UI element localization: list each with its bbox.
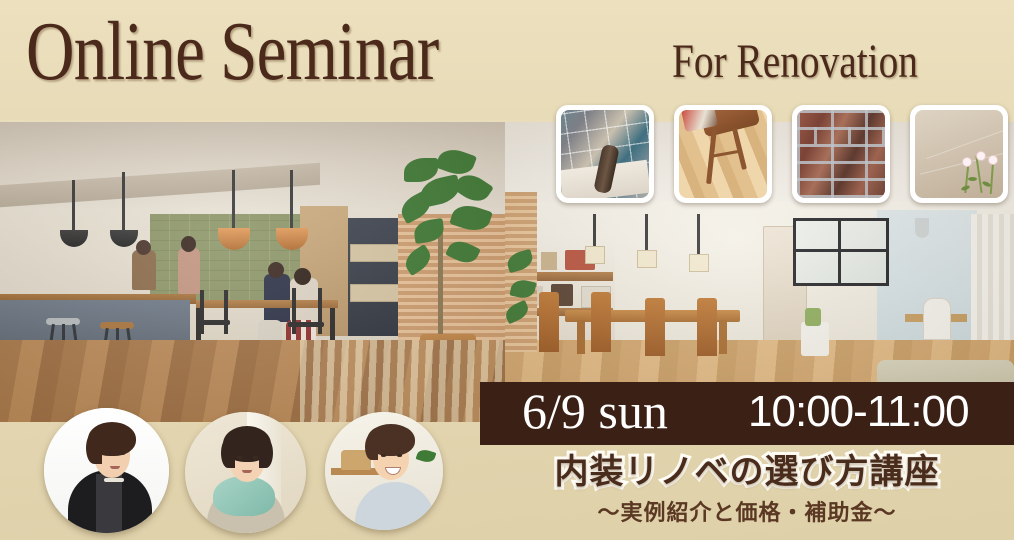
thumbnail-row (556, 105, 1014, 209)
brick-course-offset (814, 127, 885, 144)
presenter-avatar-1[interactable] (44, 408, 169, 533)
seminar-time: 10:00-11:00 (748, 380, 969, 443)
date-time-bar: 6/9 sun 10:00-11:00 (480, 382, 1014, 445)
thumbnail-mosaic-tile[interactable] (556, 105, 654, 203)
presenter-avatar-2[interactable] (185, 412, 306, 533)
presenter-avatar-3[interactable] (325, 412, 443, 530)
page-subtitle: For Renovation (672, 38, 918, 86)
banner-header: Online Seminar For Renovation (0, 0, 1014, 120)
thumbnail-plaster-wall[interactable] (910, 105, 1008, 203)
thumbnail-brick-wall[interactable] (792, 105, 890, 203)
seminar-subtitle: ～実例紹介と価格・補助金～ (480, 500, 1014, 528)
avatar-necklace (104, 478, 124, 482)
brick-wall-icon (797, 110, 885, 198)
seminar-title: 内装リノベの選び方講座 (480, 452, 1014, 492)
seminar-banner: Online Seminar For Renovation (0, 0, 1014, 540)
thumbnail-wooden-stool[interactable] (674, 105, 772, 203)
photo-vignette (0, 122, 505, 422)
avatar-lapel (96, 474, 122, 533)
page-title: Online Seminar (26, 10, 438, 94)
avatar-scarf (213, 476, 275, 516)
seminar-date: 6/9 sun (522, 380, 668, 443)
kitchen-dining-photo (0, 122, 505, 422)
daisy-flower (963, 158, 971, 166)
